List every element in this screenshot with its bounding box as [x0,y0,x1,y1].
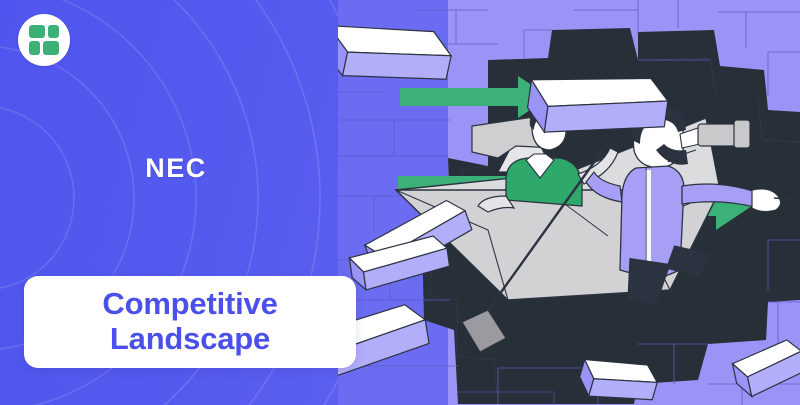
brand-logo[interactable] [18,14,70,66]
title-line-2: Landscape [110,322,270,357]
logo-tile-bottom-left [29,41,40,55]
banner-root: NEC Competitive Landscape [0,0,800,405]
logo-tile-top-right [48,25,59,38]
illustration [338,0,800,405]
title-card: Competitive Landscape [24,276,356,368]
logo-tile-bottom-right [43,41,59,55]
logo-tile-top-left [29,25,45,38]
brand-name: NEC [0,153,352,184]
logo-grid-icon [29,25,59,55]
binoculars [698,124,736,146]
title-line-1: Competitive [102,287,277,322]
